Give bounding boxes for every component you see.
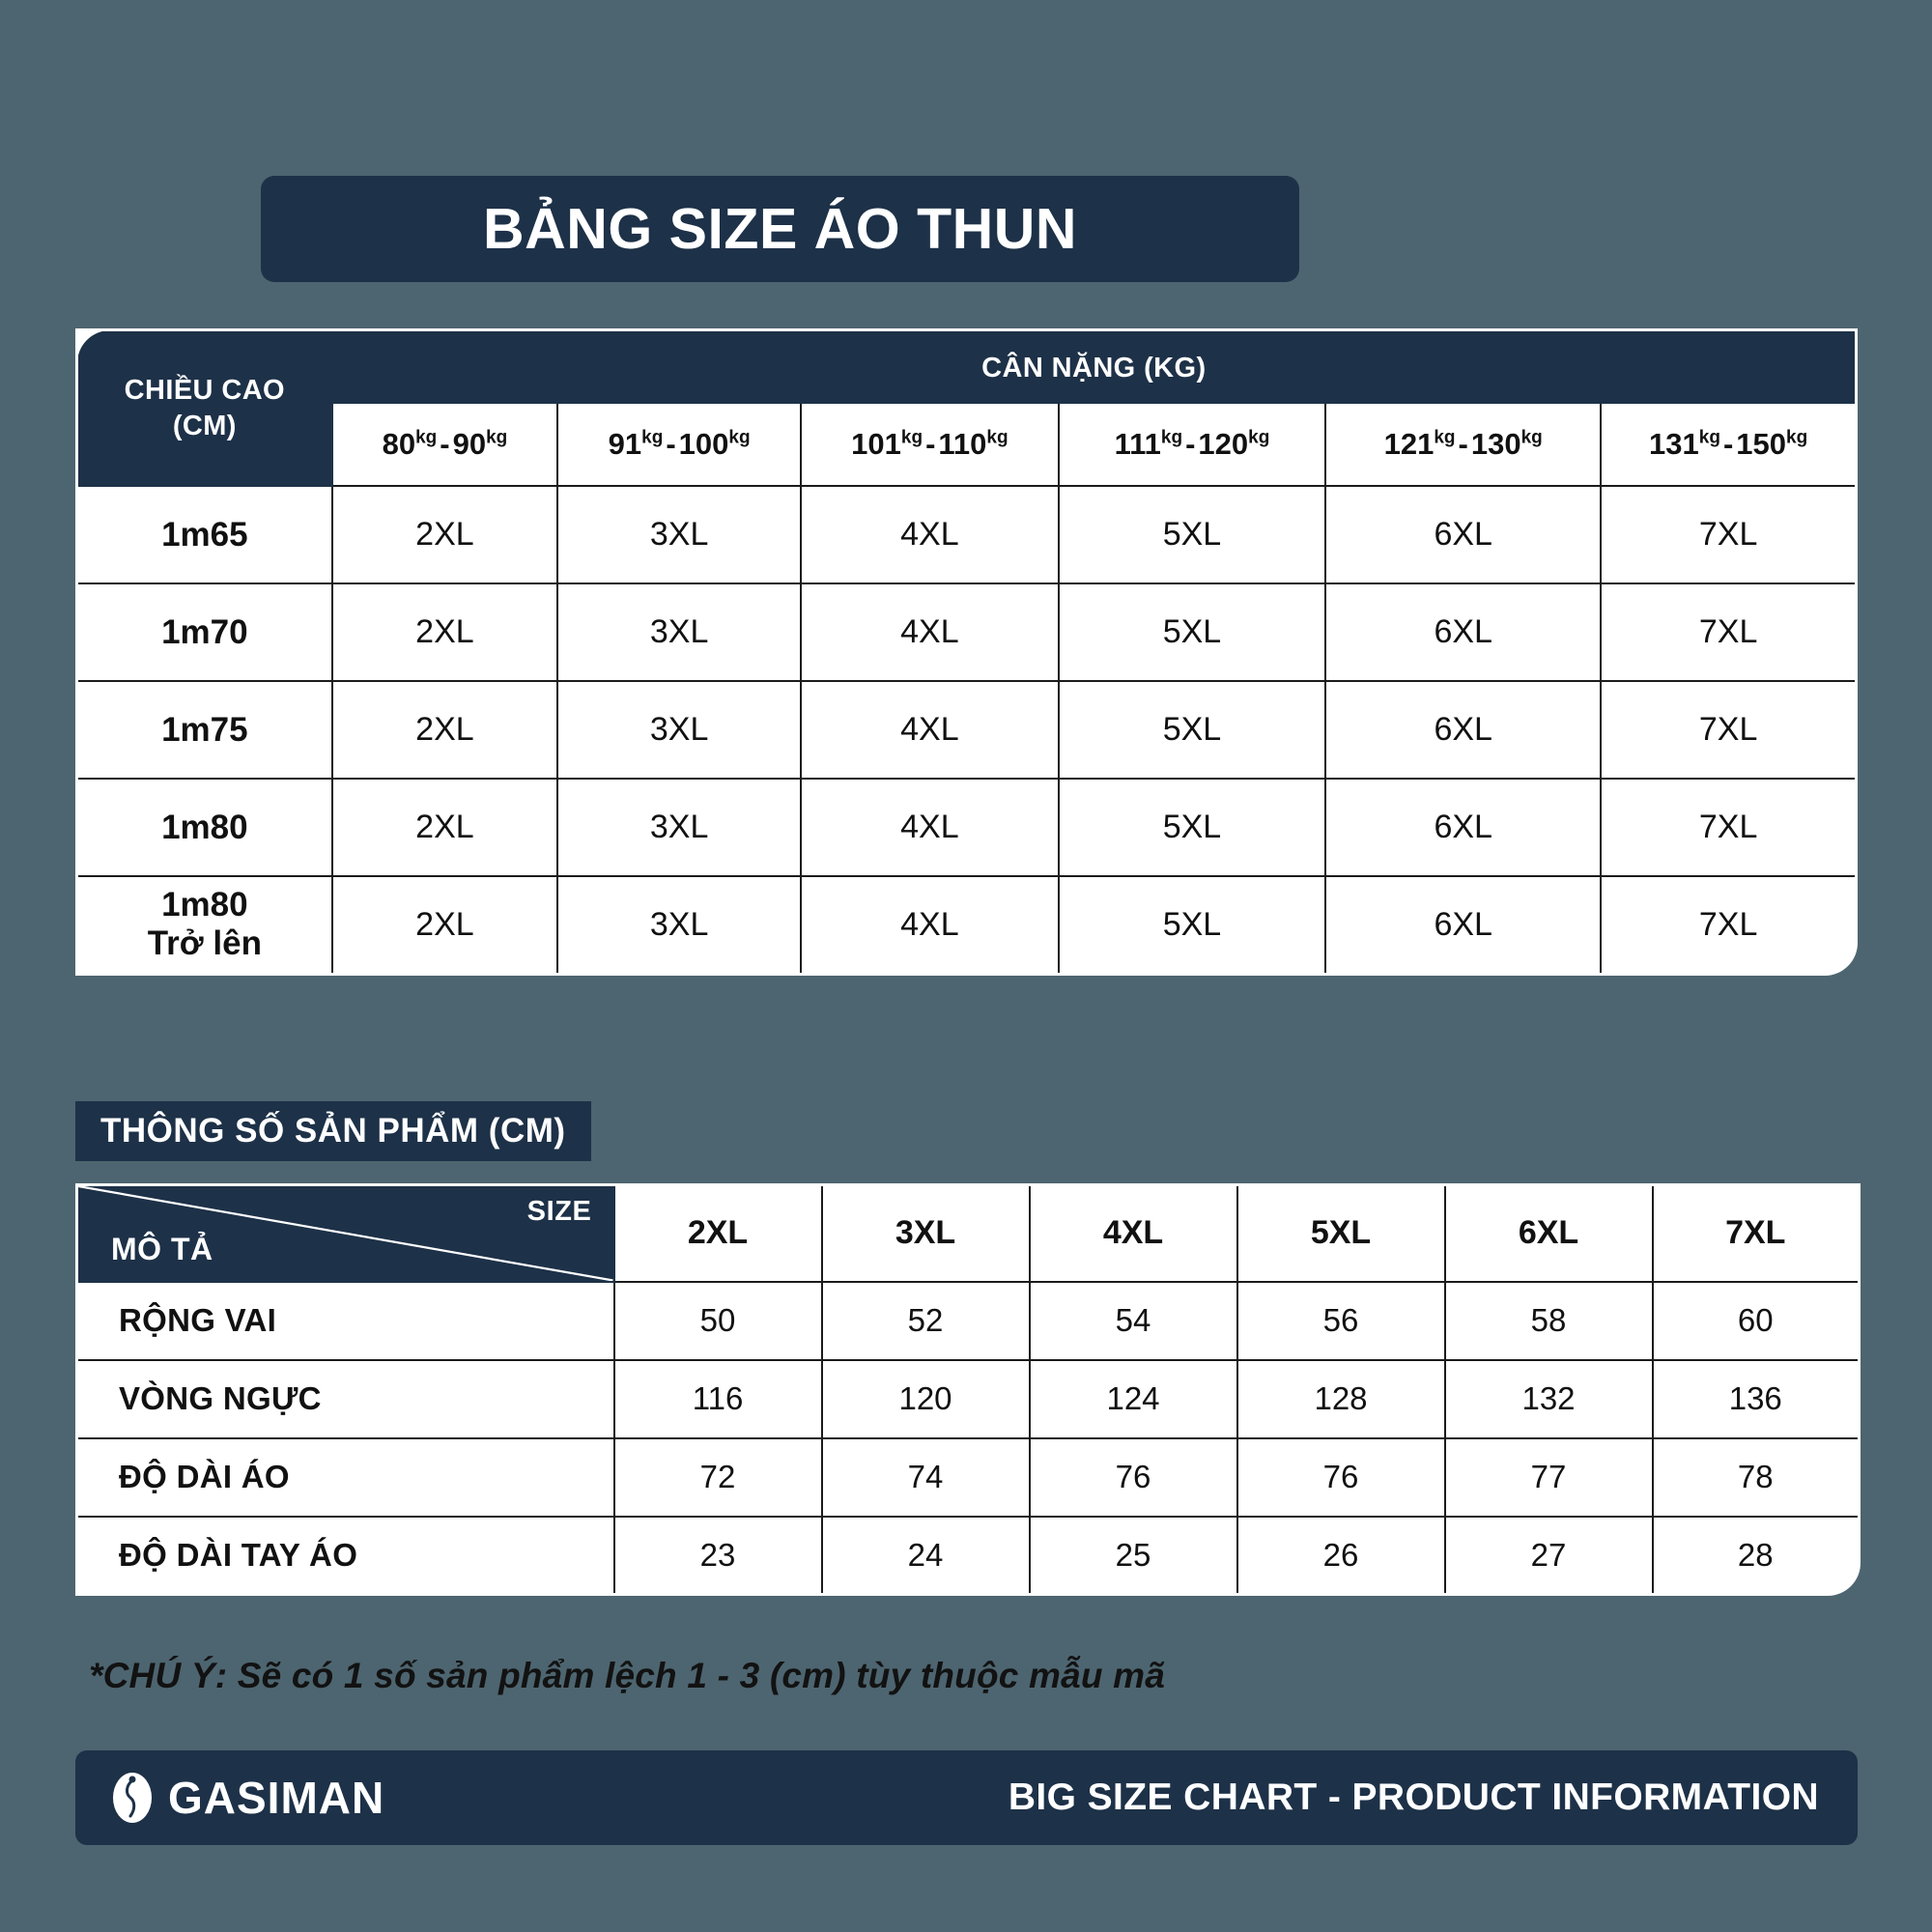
height-label-line1: 1m65 [78,516,331,554]
height-label-line1: 1m80 [78,809,331,847]
size-column-header-1: 3XL [822,1185,1030,1282]
size-cell: 6XL [1325,779,1601,876]
measurement-value: 54 [1030,1282,1237,1360]
measurement-value: 76 [1030,1438,1237,1517]
brand-logo: GASIMAN [110,1771,384,1825]
size-chart-page: BẢNG SIZE ÁO THUN CHIỀU CAO (CM) CÂN NẶN… [0,0,1932,1932]
weight-from: 131 [1649,427,1699,461]
measurement-value: 76 [1237,1438,1445,1517]
weight-from: 80 [383,427,415,461]
size-cell: 2XL [332,876,557,974]
height-header-cell: CHIỀU CAO (CM) [77,330,332,487]
height-label: 1m65 [77,486,332,583]
size-cell: 6XL [1325,876,1601,974]
measurement-value: 24 [822,1517,1030,1595]
size-column-header-4: 6XL [1445,1185,1653,1282]
footer-tagline: BIG SIZE CHART - PRODUCT INFORMATION [1009,1776,1819,1819]
size-cell: 6XL [1325,486,1601,583]
measurement-value: 27 [1445,1517,1653,1595]
page-title-banner: BẢNG SIZE ÁO THUN [261,176,1299,282]
table-row: VÒNG NGỰC 116 120 124 128 132 136 [77,1360,1860,1438]
size-cell: 7XL [1601,876,1856,974]
unit-kg: kg [641,428,663,448]
size-column-header-2: 4XL [1030,1185,1237,1282]
table-row: 1m70 2XL 3XL 4XL 5XL 6XL 7XL [77,583,1857,681]
measurement-name: ĐỘ DÀI TAY ÁO [77,1517,614,1595]
height-header-line1: CHIỀU CAO [84,373,326,408]
table-row: 1m80 2XL 3XL 4XL 5XL 6XL 7XL [77,779,1857,876]
size-cell: 6XL [1325,583,1601,681]
table-row: 1m80 Trở lên 2XL 3XL 4XL 5XL 6XL 7XL [77,876,1857,974]
height-label-line1: 1m80 [78,886,331,924]
size-cell: 5XL [1059,681,1325,779]
size-cell: 5XL [1059,876,1325,974]
size-cell: 5XL [1059,583,1325,681]
size-cell: 4XL [801,779,1059,876]
height-label: 1m70 [77,583,332,681]
measurement-value: 52 [822,1282,1030,1360]
measurement-value: 120 [822,1360,1030,1438]
unit-kg: kg [486,428,507,448]
weight-to: 130 [1471,427,1521,461]
height-label: 1m80 [77,779,332,876]
measurement-value: 56 [1237,1282,1445,1360]
measurement-value: 25 [1030,1517,1237,1595]
table-row: ĐỘ DÀI ÁO 72 74 76 76 77 78 [77,1438,1860,1517]
weight-column-header-0: 80kg-90kg [332,403,557,486]
size-cell: 4XL [801,486,1059,583]
size-cell: 2XL [332,486,557,583]
size-cell: 5XL [1059,779,1325,876]
size-cell: 2XL [332,779,557,876]
table-weight-columns-row: 80kg-90kg 91kg-100kg 101kg-110kg 111kg-1… [77,403,1857,486]
page-title: BẢNG SIZE ÁO THUN [483,196,1077,262]
size-cell: 6XL [1325,681,1601,779]
measurement-name: VÒNG NGỰC [77,1360,614,1438]
weight-column-header-1: 91kg-100kg [557,403,801,486]
measurement-name: ĐỘ DÀI ÁO [77,1438,614,1517]
weight-to: 100 [679,427,729,461]
weight-column-header-3: 111kg-120kg [1059,403,1325,486]
measurement-value: 28 [1653,1517,1860,1595]
weight-from: 101 [851,427,901,461]
footer-bar: GASIMAN BIG SIZE CHART - PRODUCT INFORMA… [75,1750,1858,1845]
weight-from: 91 [609,427,641,461]
gasiman-egg-icon [110,1771,155,1825]
size-cell: 3XL [557,779,801,876]
range-dash: - [1456,427,1471,461]
size-cell: 2XL [332,681,557,779]
table-row: 1m75 2XL 3XL 4XL 5XL 6XL 7XL [77,681,1857,779]
measurement-name: RỘNG VAI [77,1282,614,1360]
table-header-row: SIZE MÔ TẢ 2XL 3XL 4XL 5XL 6XL 7XL [77,1185,1860,1282]
height-label: 1m75 [77,681,332,779]
weight-from: 111 [1115,427,1161,461]
size-column-header-5: 7XL [1653,1185,1860,1282]
measurement-value: 26 [1237,1517,1445,1595]
size-cell: 4XL [801,876,1059,974]
measurement-value: 50 [614,1282,822,1360]
unit-kg: kg [1434,428,1455,448]
size-cell: 7XL [1601,681,1856,779]
range-dash: - [1182,427,1198,461]
range-dash: - [923,427,938,461]
corner-desc-label: MÔ TẢ [111,1232,213,1267]
weight-to: 90 [453,427,486,461]
size-cell: 7XL [1601,779,1856,876]
measurement-value: 124 [1030,1360,1237,1438]
measurement-value: 74 [822,1438,1030,1517]
size-cell: 7XL [1601,486,1856,583]
table-row: 1m65 2XL 3XL 4XL 5XL 6XL 7XL [77,486,1857,583]
height-label-line2: Trở lên [78,924,331,963]
size-cell: 3XL [557,876,801,974]
measurement-value: 128 [1237,1360,1445,1438]
size-cell: 4XL [801,583,1059,681]
unit-kg: kg [1699,428,1720,448]
brand-name: GASIMAN [168,1772,384,1824]
product-measurements-table-wrapper: SIZE MÔ TẢ 2XL 3XL 4XL 5XL 6XL 7XL RỘNG … [75,1183,1858,1596]
size-cell: 3XL [557,681,801,779]
measurement-value: 60 [1653,1282,1860,1360]
unit-kg: kg [901,428,923,448]
unit-kg: kg [986,428,1008,448]
weight-to: 150 [1736,427,1786,461]
size-cell: 2XL [332,583,557,681]
spec-section-label-text: THÔNG SỐ SẢN PHẨM (CM) [100,1112,566,1151]
measurement-value: 132 [1445,1360,1653,1438]
unit-kg: kg [1786,428,1807,448]
size-recommendation-table: CHIỀU CAO (CM) CÂN NẶNG (KG) 80kg-90kg 9… [75,328,1858,976]
height-header-line2: (CM) [84,409,326,443]
measurement-value: 72 [614,1438,822,1517]
weight-column-header-5: 131kg-150kg [1601,403,1856,486]
measurement-value: 23 [614,1517,822,1595]
height-label: 1m80 Trở lên [77,876,332,974]
unit-kg: kg [1161,428,1182,448]
table-row: RỘNG VAI 50 52 54 56 58 60 [77,1282,1860,1360]
measurement-value: 136 [1653,1360,1860,1438]
weight-group-header: CÂN NẶNG (KG) [332,330,1857,404]
disclaimer-note: *CHÚ Ý: Sẽ có 1 số sản phẩm lệch 1 - 3 (… [89,1656,1165,1696]
corner-split-header-cell: SIZE MÔ TẢ [77,1185,614,1282]
size-column-header-0: 2XL [614,1185,822,1282]
size-column-header-3: 5XL [1237,1185,1445,1282]
table-row: ĐỘ DÀI TAY ÁO 23 24 25 26 27 28 [77,1517,1860,1595]
weight-from: 121 [1384,427,1435,461]
weight-column-header-4: 121kg-130kg [1325,403,1601,486]
size-cell: 5XL [1059,486,1325,583]
corner-size-label: SIZE [527,1196,592,1228]
unit-kg: kg [728,428,750,448]
measurement-value: 77 [1445,1438,1653,1517]
height-label-line1: 1m75 [78,711,331,750]
spec-section-label: THÔNG SỐ SẢN PHẨM (CM) [75,1101,591,1161]
measurement-value: 58 [1445,1282,1653,1360]
range-dash: - [663,427,678,461]
measurement-value: 116 [614,1360,822,1438]
weight-to: 110 [938,427,986,461]
size-cell: 3XL [557,486,801,583]
size-cell: 7XL [1601,583,1856,681]
size-cell: 3XL [557,583,801,681]
unit-kg: kg [1248,428,1269,448]
range-dash: - [1720,427,1736,461]
unit-kg: kg [1521,428,1543,448]
size-recommendation-table-wrapper: CHIỀU CAO (CM) CÂN NẶNG (KG) 80kg-90kg 9… [75,328,1858,976]
height-label-line1: 1m70 [78,613,331,652]
size-cell: 4XL [801,681,1059,779]
unit-kg: kg [415,428,437,448]
weight-to: 120 [1198,427,1248,461]
table-header-group-row: CHIỀU CAO (CM) CÂN NẶNG (KG) [77,330,1857,404]
range-dash: - [437,427,452,461]
weight-column-header-2: 101kg-110kg [801,403,1059,486]
measurement-value: 78 [1653,1438,1860,1517]
product-measurements-table: SIZE MÔ TẢ 2XL 3XL 4XL 5XL 6XL 7XL RỘNG … [75,1183,1861,1596]
